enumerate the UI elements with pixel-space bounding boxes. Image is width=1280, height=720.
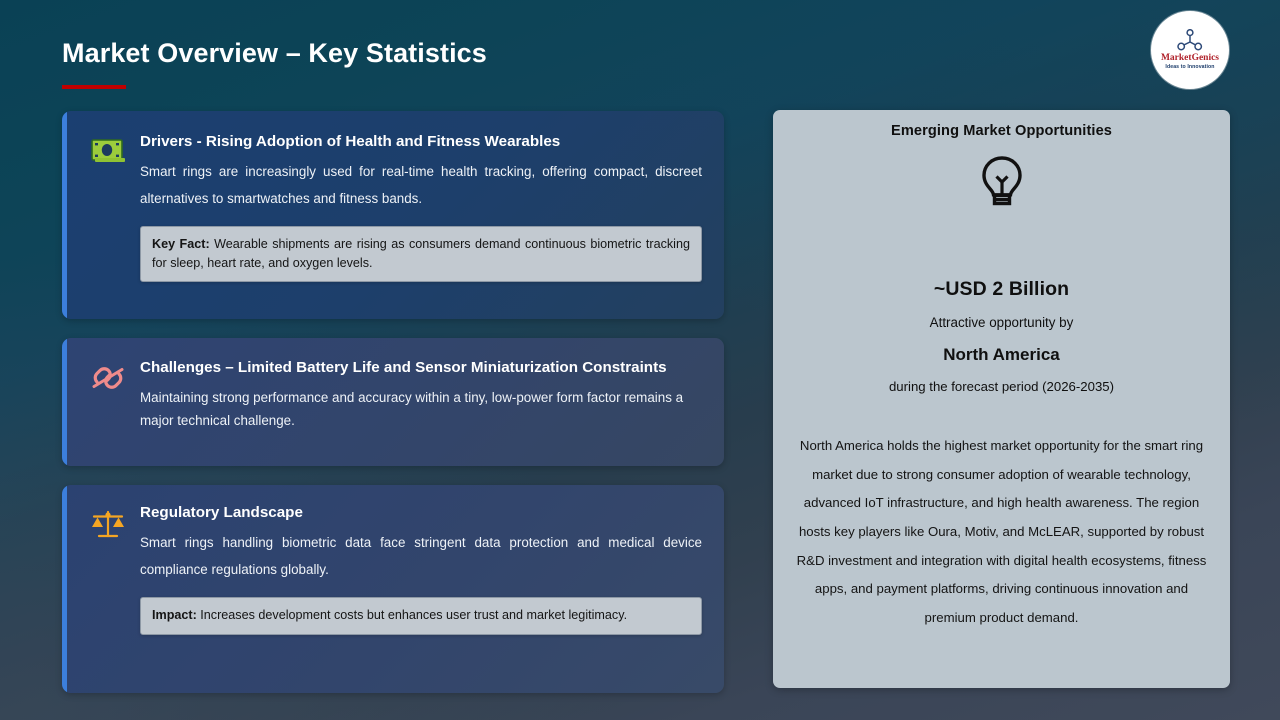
card-title: Regulatory Landscape bbox=[140, 500, 702, 526]
callout-text: Increases development costs but enhances… bbox=[197, 608, 627, 622]
page-title: Market Overview – Key Statistics bbox=[62, 38, 487, 69]
callout-text: Wearable shipments are rising as consume… bbox=[152, 237, 690, 269]
card-description: Maintaining strong performance and accur… bbox=[140, 387, 702, 433]
molecule-node-icon bbox=[1177, 29, 1203, 53]
panel-title: Emerging Market Opportunities bbox=[773, 123, 1230, 139]
card-drivers[interactable]: Drivers - Rising Adoption of Health and … bbox=[62, 111, 724, 319]
card-challenges[interactable]: Challenges – Limited Battery Life and Se… bbox=[62, 338, 724, 466]
logo-tagline: Ideas to Innovation bbox=[1165, 65, 1214, 71]
card-callout-impact: Impact: Increases development costs but … bbox=[140, 597, 702, 634]
card-description: Smart rings are increasingly used for re… bbox=[140, 159, 702, 212]
callout-label: Impact: bbox=[152, 608, 197, 622]
card-callout-keyfact: Key Fact: Wearable shipments are rising … bbox=[140, 226, 702, 282]
title-underline-rule bbox=[62, 85, 126, 89]
panel-subtitle: Attractive opportunity by bbox=[773, 315, 1230, 330]
card-description: Smart rings handling biometric data face… bbox=[140, 530, 702, 583]
logo-name: MarketGenics bbox=[1161, 54, 1219, 64]
slide-root: Market Overview – Key Statistics MarketG… bbox=[0, 0, 1280, 720]
balance-scale-icon bbox=[88, 505, 128, 545]
card-title: Drivers - Rising Adoption of Health and … bbox=[140, 129, 702, 155]
panel-paragraph: North America holds the highest market o… bbox=[795, 432, 1208, 632]
brand-logo: MarketGenics Ideas to Innovation bbox=[1151, 11, 1229, 89]
card-regulatory[interactable]: Regulatory Landscape Smart rings handlin… bbox=[62, 485, 724, 693]
panel-market-value: ~USD 2 Billion bbox=[773, 278, 1230, 301]
lightbulb-icon bbox=[976, 155, 1028, 213]
broken-link-icon bbox=[88, 358, 128, 398]
panel-forecast-period: during the forecast period (2026-2035) bbox=[773, 379, 1230, 394]
banknote-icon bbox=[88, 131, 128, 171]
callout-label: Key Fact: bbox=[152, 237, 210, 251]
card-title: Challenges – Limited Battery Life and Se… bbox=[140, 355, 702, 381]
panel-emerging-market-opportunities[interactable]: Emerging Market Opportunities ~USD 2 Bil… bbox=[773, 110, 1230, 688]
panel-region: North America bbox=[773, 345, 1230, 365]
